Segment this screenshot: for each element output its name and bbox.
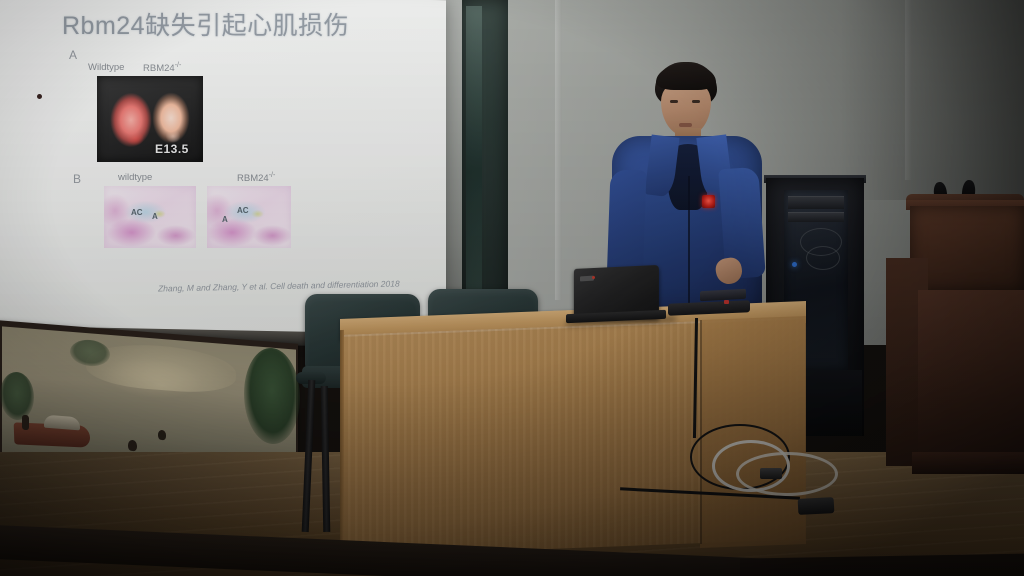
mural-waterbird bbox=[158, 430, 166, 441]
histology-section-wildtype bbox=[104, 186, 196, 248]
mural-waterbird bbox=[128, 440, 137, 452]
panel-b-mutant-superscript: -/- bbox=[269, 172, 276, 179]
panel-b-letter: B bbox=[73, 172, 81, 186]
panel-a-letter: A bbox=[69, 48, 77, 62]
panel-a-mutant-label: RBM24-/- bbox=[143, 62, 181, 74]
panel-a-mutant-gene: RBM24 bbox=[143, 63, 175, 74]
histology-annotation-ac: AC bbox=[237, 206, 249, 215]
cable-junction-box bbox=[798, 497, 835, 515]
device-status-led bbox=[724, 300, 729, 304]
panel-b-wildtype-label: wildtype bbox=[118, 172, 152, 183]
desk-panel-seam bbox=[700, 320, 702, 544]
white-cable-loop bbox=[736, 452, 838, 496]
lecture-room-scene: Rbm24缺失引起心肌损伤 A Wildtype RBM24-/- E13.5 … bbox=[0, 0, 1024, 576]
rack-mounted-unit bbox=[788, 212, 844, 222]
presenter-red-badge bbox=[702, 195, 715, 208]
wall-glass-reflection bbox=[466, 6, 482, 306]
presenter-jacket-zipper bbox=[688, 176, 690, 306]
wall-seam bbox=[555, 0, 562, 300]
chair-leg bbox=[321, 386, 331, 532]
slide-title: Rbm24缺失引起心肌损伤 bbox=[62, 6, 432, 42]
rack-mounted-unit bbox=[788, 196, 844, 209]
panel-a-mutant-superscript: -/- bbox=[175, 62, 182, 69]
histology-annotation-a: A bbox=[152, 212, 158, 221]
mural-boatman bbox=[22, 415, 29, 431]
histology-section-mutant bbox=[207, 186, 291, 248]
desk-left-edge bbox=[340, 330, 344, 542]
wall-seam bbox=[905, 0, 912, 180]
cable-connector bbox=[760, 468, 782, 479]
laptop-logo-dot-icon bbox=[592, 276, 595, 279]
embryo-eye bbox=[37, 94, 42, 99]
podium-foot bbox=[912, 452, 1024, 474]
panel-a-wildtype-label: Wildtype bbox=[88, 62, 124, 73]
presenter-eye bbox=[670, 100, 678, 103]
histology-annotation-ac: AC bbox=[131, 208, 143, 217]
podium-base bbox=[918, 290, 1024, 462]
embryo-stage-label: E13.5 bbox=[155, 142, 189, 156]
panel-b-mutant-label: RBM24-/- bbox=[237, 172, 275, 184]
histology-annotation-a: A bbox=[222, 215, 228, 224]
presenter-mouth bbox=[679, 123, 692, 127]
presenter-eye bbox=[692, 100, 700, 103]
rack-cable bbox=[806, 246, 840, 270]
panel-b-mutant-gene: RBM24 bbox=[237, 173, 269, 184]
rack-status-led bbox=[792, 262, 797, 267]
